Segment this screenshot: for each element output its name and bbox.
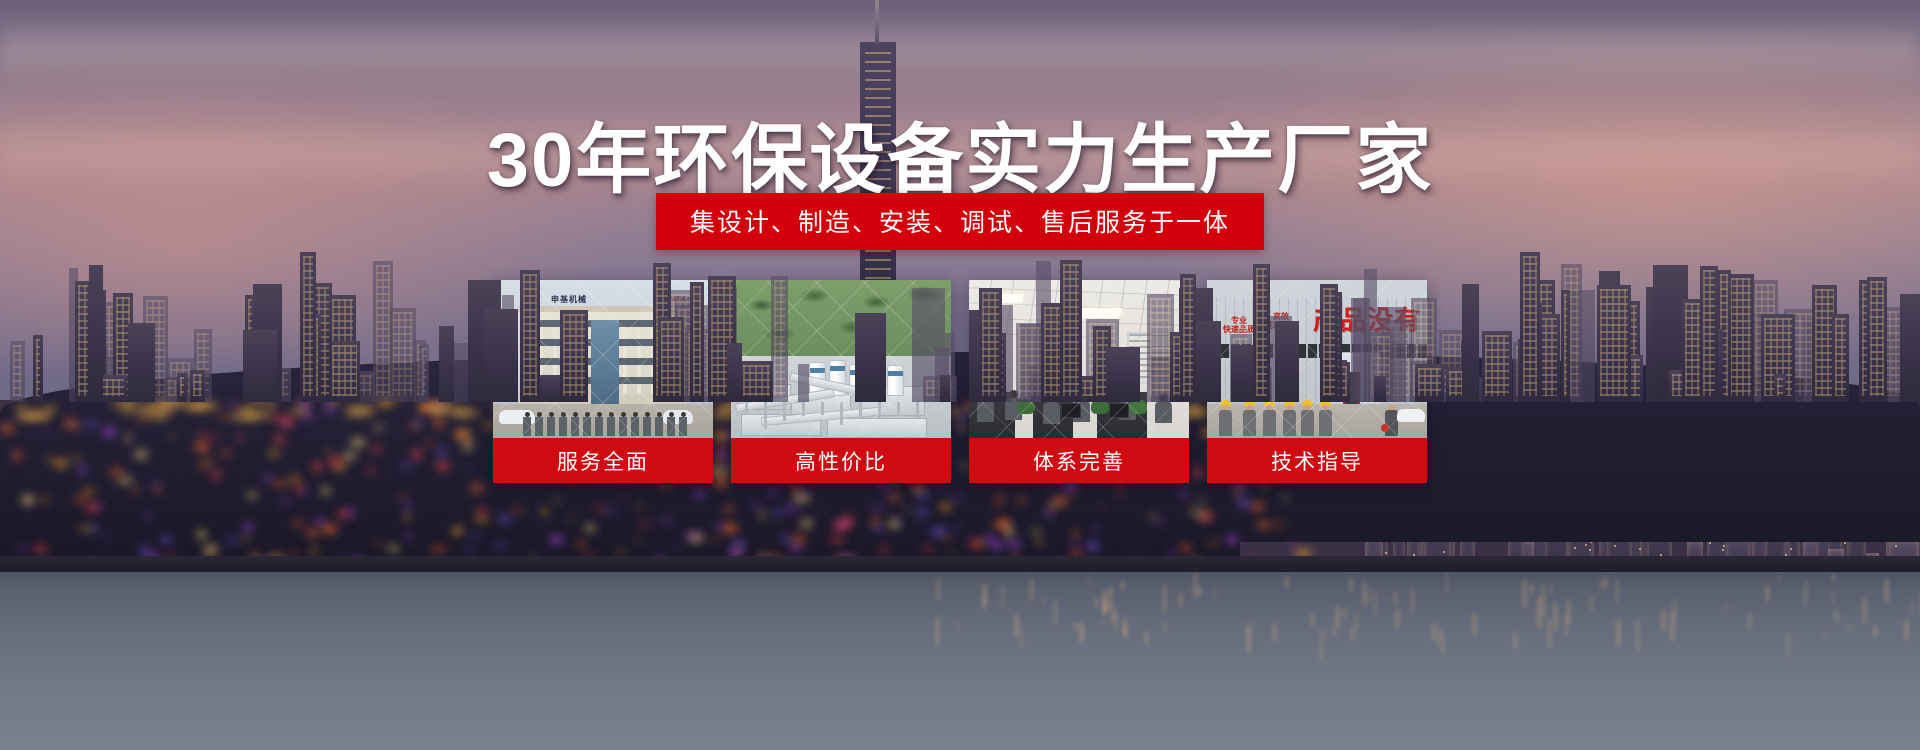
water-reflection — [1030, 578, 1033, 601]
park-light — [1133, 553, 1141, 555]
park-light — [131, 489, 138, 492]
staff-person — [595, 412, 603, 436]
skyline-building — [798, 364, 809, 402]
water-reflection — [1145, 631, 1148, 644]
park-light — [34, 546, 47, 552]
water-reflection — [1554, 603, 1557, 630]
park-light — [1210, 541, 1217, 545]
water-reflection — [1103, 591, 1106, 614]
water-reflection — [1074, 623, 1077, 630]
water-reflection — [1617, 620, 1620, 646]
park-light — [445, 547, 449, 551]
park-light — [986, 533, 991, 542]
park-light — [1070, 549, 1086, 551]
park-light — [375, 543, 383, 546]
water-reflection — [1615, 578, 1618, 602]
water-ripple — [0, 708, 1920, 710]
water-reflection — [937, 579, 940, 600]
park-light — [550, 536, 563, 544]
park-light — [741, 544, 745, 550]
park-light — [1067, 493, 1077, 496]
park-light — [242, 538, 249, 541]
water-reflection — [1088, 576, 1091, 587]
water-reflection — [1179, 594, 1182, 606]
water-ripple — [0, 624, 1920, 626]
subtitle-container: 集设计、制造、安装、调试、售后服务于一体 — [0, 193, 1920, 250]
park-light — [969, 540, 982, 547]
skyline-building — [771, 276, 788, 402]
water-reflection — [1015, 615, 1018, 637]
water-reflection — [1823, 631, 1826, 639]
water-reflection — [1351, 627, 1354, 641]
park-light — [996, 499, 1001, 506]
card-label: 体系完善 — [969, 438, 1189, 483]
water-ripple — [0, 717, 1920, 719]
water-reflection — [1590, 596, 1593, 613]
park-light — [888, 495, 900, 500]
park-light — [292, 521, 304, 525]
park-light — [794, 495, 810, 502]
park-light — [1037, 539, 1041, 543]
park-light — [295, 484, 303, 492]
park-light — [874, 526, 882, 532]
water-reflection — [1121, 581, 1124, 589]
skyline-building — [1253, 264, 1270, 402]
park-light — [476, 508, 487, 513]
water-reflection — [1662, 610, 1665, 631]
skyline-building — [940, 375, 950, 402]
building-signage: 申基机械 — [551, 294, 587, 305]
skyline-building — [1832, 314, 1849, 402]
park-light — [1181, 545, 1190, 550]
staff-person — [535, 412, 543, 436]
water-reflection — [1473, 614, 1476, 635]
staff-person — [523, 412, 531, 436]
park-light — [405, 503, 411, 511]
factory-worker — [1319, 400, 1332, 436]
staff-person — [571, 412, 579, 436]
park-light — [1118, 486, 1123, 493]
water-reflection — [1874, 626, 1877, 637]
park-light — [204, 546, 218, 554]
water-reflection — [1542, 585, 1545, 617]
park-light — [1237, 499, 1251, 507]
park-light — [74, 497, 87, 500]
park-light — [1157, 521, 1166, 524]
park-light — [243, 524, 254, 531]
water-reflection — [1095, 598, 1098, 607]
skyline-building — [855, 313, 886, 402]
conveyor-support — [783, 402, 786, 421]
park-light — [658, 483, 673, 486]
park-light — [1086, 542, 1099, 550]
staff-person — [607, 412, 615, 436]
park-light — [995, 494, 1007, 496]
park-light — [792, 536, 805, 543]
park-light — [637, 523, 652, 525]
skyline-building — [389, 308, 416, 402]
water-reflection — [1273, 624, 1276, 643]
water-reflection — [1831, 590, 1834, 604]
desktop-monitor — [1061, 403, 1081, 418]
park-light — [16, 548, 30, 550]
park-light — [1048, 487, 1054, 490]
desktop-monitor — [1109, 403, 1129, 418]
park-light — [82, 490, 95, 494]
water-reflection — [1285, 577, 1288, 588]
water-reflection — [956, 621, 959, 631]
park-light — [322, 525, 337, 532]
water-ripple — [0, 700, 1920, 702]
park-light — [785, 506, 800, 510]
staff-person — [547, 412, 555, 436]
park-light — [1235, 488, 1240, 495]
park-light — [606, 510, 616, 512]
water-reflection — [1777, 574, 1780, 583]
park-light — [834, 522, 849, 529]
park-light — [931, 528, 945, 536]
water-reflection — [1350, 577, 1353, 592]
water-ripple — [0, 661, 1920, 663]
water-ripple — [0, 621, 1920, 623]
skyline-tower — [1060, 260, 1082, 402]
water-reflection — [1054, 600, 1057, 625]
park-light — [897, 519, 902, 522]
park-light — [1196, 500, 1207, 502]
skyline-building — [329, 341, 360, 402]
park-light — [883, 487, 893, 490]
conveyor-support — [897, 402, 900, 416]
water-reflection — [1198, 586, 1201, 596]
water-reflection — [1247, 624, 1250, 652]
park-light — [912, 486, 924, 491]
park-light — [498, 516, 513, 522]
park-light — [406, 534, 412, 539]
park-light — [247, 493, 257, 498]
park-light — [1284, 494, 1287, 501]
park-light — [405, 513, 410, 521]
park-light — [160, 537, 173, 543]
park-light — [1047, 503, 1060, 506]
skyline-building — [1774, 374, 1786, 402]
park-light — [950, 497, 963, 499]
skyline-building — [190, 370, 205, 402]
water-ripple — [0, 649, 1920, 651]
park-light — [140, 547, 150, 555]
staff-person — [583, 412, 591, 436]
water-reflection — [1725, 602, 1728, 612]
park-light — [347, 509, 355, 515]
park-light — [1251, 503, 1264, 510]
park-light — [1071, 543, 1077, 547]
park-light — [1018, 498, 1025, 504]
water-reflection — [1673, 601, 1676, 617]
park-light — [226, 539, 239, 543]
park-light — [1100, 506, 1104, 509]
water-reflection — [1567, 600, 1570, 624]
water-ripple — [0, 572, 1920, 574]
water-reflection — [936, 617, 939, 646]
staff-person — [643, 412, 651, 436]
water-reflection — [1355, 614, 1358, 629]
park-light — [495, 544, 506, 549]
water-ripple — [0, 644, 1920, 646]
park-light — [432, 547, 443, 552]
skyline-building — [1900, 294, 1920, 402]
skyline-building — [1597, 285, 1631, 403]
water-reflection — [1411, 588, 1414, 613]
conveyor-support — [821, 402, 824, 415]
conveyor-support — [802, 402, 805, 416]
park-light — [1073, 531, 1078, 539]
park-light — [512, 509, 524, 513]
water-reflection — [1530, 584, 1533, 594]
subtitle-banner: 集设计、制造、安装、调试、售后服务于一体 — [656, 193, 1264, 250]
water-ripple — [0, 638, 1920, 640]
water-reflection — [1194, 574, 1197, 598]
water-reflection — [1394, 592, 1397, 604]
water-reflection — [1748, 613, 1751, 631]
skyline-building — [979, 288, 1002, 402]
park-light — [569, 517, 572, 519]
water-reflection — [1601, 579, 1604, 590]
conveyor-support — [859, 402, 862, 416]
skyline-building — [10, 341, 25, 402]
tower-spire — [875, 0, 879, 44]
factory-worker — [1301, 400, 1314, 436]
park-light — [1262, 483, 1267, 488]
skyline-building — [1462, 284, 1479, 402]
park-light — [1063, 482, 1077, 489]
park-light — [42, 497, 46, 502]
staff-person — [655, 412, 663, 436]
park-light — [145, 514, 150, 518]
park-light — [1093, 527, 1098, 531]
water-reflection — [1343, 609, 1346, 618]
water-reflection — [1324, 628, 1327, 638]
park-light — [711, 538, 721, 541]
water-reflection — [1311, 614, 1314, 626]
park-light — [306, 530, 318, 535]
water-reflection — [1109, 586, 1112, 610]
skyline-building — [1275, 321, 1299, 402]
park-light — [556, 498, 559, 503]
park-light — [137, 488, 141, 492]
water-ripple — [0, 713, 1920, 715]
park-light — [1004, 524, 1009, 526]
water-ripple — [0, 608, 1920, 610]
water-ripple — [0, 733, 1920, 735]
park-light — [618, 550, 623, 554]
water-reflection — [1368, 588, 1371, 604]
water-reflection — [1523, 580, 1526, 607]
water-reflection — [1848, 625, 1851, 632]
water-reflection — [1336, 606, 1339, 628]
water-reflection — [1548, 619, 1551, 648]
park-light — [621, 495, 626, 498]
park-light — [694, 491, 703, 497]
water-ripple — [0, 657, 1920, 659]
skyline-tower — [300, 252, 316, 402]
water-reflection — [1514, 632, 1517, 650]
water-ripple — [0, 669, 1920, 671]
park-light — [871, 519, 880, 525]
water-ripple — [0, 590, 1920, 592]
park-light — [542, 508, 547, 516]
skyline-building — [1374, 376, 1385, 402]
water-reflection — [1787, 632, 1790, 656]
water-reflection — [1550, 582, 1553, 596]
water-reflection — [1605, 575, 1608, 590]
staff-lineup — [523, 410, 693, 436]
water-reflection — [1885, 579, 1888, 602]
skyline-building — [243, 330, 277, 402]
skyline-tower — [1320, 284, 1338, 402]
water-reflection — [1437, 625, 1440, 645]
park-light — [790, 545, 802, 552]
park-light — [791, 485, 799, 488]
park-light — [104, 534, 110, 537]
skyline-tower — [1520, 252, 1540, 402]
skyline-tower — [690, 282, 704, 402]
skyline-building — [1415, 364, 1444, 402]
park-light — [793, 489, 799, 493]
water-ripple — [0, 665, 1920, 667]
staff-person — [667, 412, 675, 436]
park-light — [1237, 484, 1246, 490]
park-light — [830, 537, 843, 542]
park-light — [453, 527, 462, 535]
park-light — [585, 525, 595, 531]
park-light — [663, 519, 670, 524]
water-reflection — [1114, 608, 1117, 630]
water-reflection — [1432, 623, 1435, 640]
parked-car — [1397, 409, 1425, 422]
park-light — [943, 537, 951, 539]
park-light — [879, 548, 889, 552]
skyline-building — [439, 326, 454, 402]
factory-worker — [1263, 400, 1276, 436]
park-light — [801, 520, 813, 527]
park-light — [636, 539, 641, 541]
water-reflection — [1835, 610, 1838, 623]
park-light — [760, 512, 765, 518]
park-light — [1047, 510, 1054, 513]
skyline-building — [1867, 277, 1887, 402]
water-reflection — [1102, 619, 1105, 628]
water-reflection — [1766, 585, 1769, 601]
park-light — [940, 504, 951, 510]
park-light — [916, 492, 930, 498]
park-light — [1189, 509, 1198, 512]
building-glass-atrium — [591, 320, 619, 404]
water-ripple — [0, 696, 1920, 698]
park-light — [675, 544, 683, 546]
park-light — [22, 496, 34, 504]
park-light — [990, 541, 1003, 548]
water-reflection — [1123, 617, 1126, 635]
page-title: 30年环保设备实力生产厂家 — [0, 98, 1920, 208]
water-reflection — [1804, 580, 1807, 605]
water-reflection — [1213, 587, 1216, 598]
skyline-building — [33, 335, 43, 402]
water-reflection — [1001, 585, 1004, 608]
water-reflection — [1905, 621, 1908, 639]
park-light — [322, 487, 329, 495]
skyline-building — [658, 317, 684, 402]
skyline-building — [1196, 321, 1221, 402]
water-reflection — [1363, 582, 1366, 605]
skyline-building — [727, 343, 742, 402]
park-light — [470, 485, 484, 491]
factory-worker — [1283, 400, 1296, 436]
staff-person — [559, 412, 567, 436]
park-light — [577, 542, 585, 547]
park-light — [1150, 515, 1156, 519]
park-light — [398, 495, 407, 498]
park-light — [848, 514, 851, 517]
water-ripple — [0, 582, 1920, 584]
factory-worker — [1219, 400, 1232, 436]
conveyor-support — [878, 402, 881, 418]
river-water — [0, 572, 1920, 750]
park-light — [937, 486, 941, 489]
water-reflection — [1445, 572, 1448, 593]
water-reflection — [1333, 626, 1336, 636]
skyline-building — [1482, 331, 1512, 402]
park-light — [771, 511, 784, 515]
card-label: 高性价比 — [731, 438, 951, 483]
park-light — [916, 510, 928, 517]
park-light — [637, 505, 641, 508]
park-light — [474, 517, 489, 521]
water-reflection — [1863, 598, 1866, 623]
skyline-building — [1106, 347, 1140, 402]
water-reflection — [1441, 631, 1444, 653]
skyline-building — [740, 361, 773, 402]
water-ripple — [0, 587, 1920, 589]
water-reflection — [1163, 584, 1166, 611]
conveyor-support — [840, 402, 843, 425]
water-ripple — [0, 652, 1920, 654]
park-light — [280, 500, 291, 503]
park-light — [88, 527, 99, 531]
park-light — [1179, 490, 1189, 495]
water-reflection — [1636, 620, 1639, 651]
park-light — [392, 502, 396, 505]
water-reflection — [1374, 591, 1377, 616]
water-reflection — [1538, 597, 1541, 626]
park-light — [769, 490, 778, 494]
park-light — [467, 535, 482, 538]
park-light — [467, 546, 471, 555]
conveyor-support — [916, 402, 919, 418]
staff-person — [619, 412, 627, 436]
skyline-tower — [520, 270, 540, 402]
skyline-building — [419, 344, 429, 402]
conveyor-support — [745, 402, 748, 415]
water-ripple — [0, 601, 1920, 603]
park-light — [921, 548, 934, 551]
cloud-band — [0, 18, 1920, 88]
park-light — [871, 507, 883, 509]
park-light — [388, 546, 399, 550]
skyline-building — [484, 309, 518, 402]
skyline-building — [177, 373, 187, 402]
park-light — [724, 507, 734, 512]
water-reflection — [1911, 599, 1914, 616]
card-label: 服务全面 — [493, 438, 713, 483]
